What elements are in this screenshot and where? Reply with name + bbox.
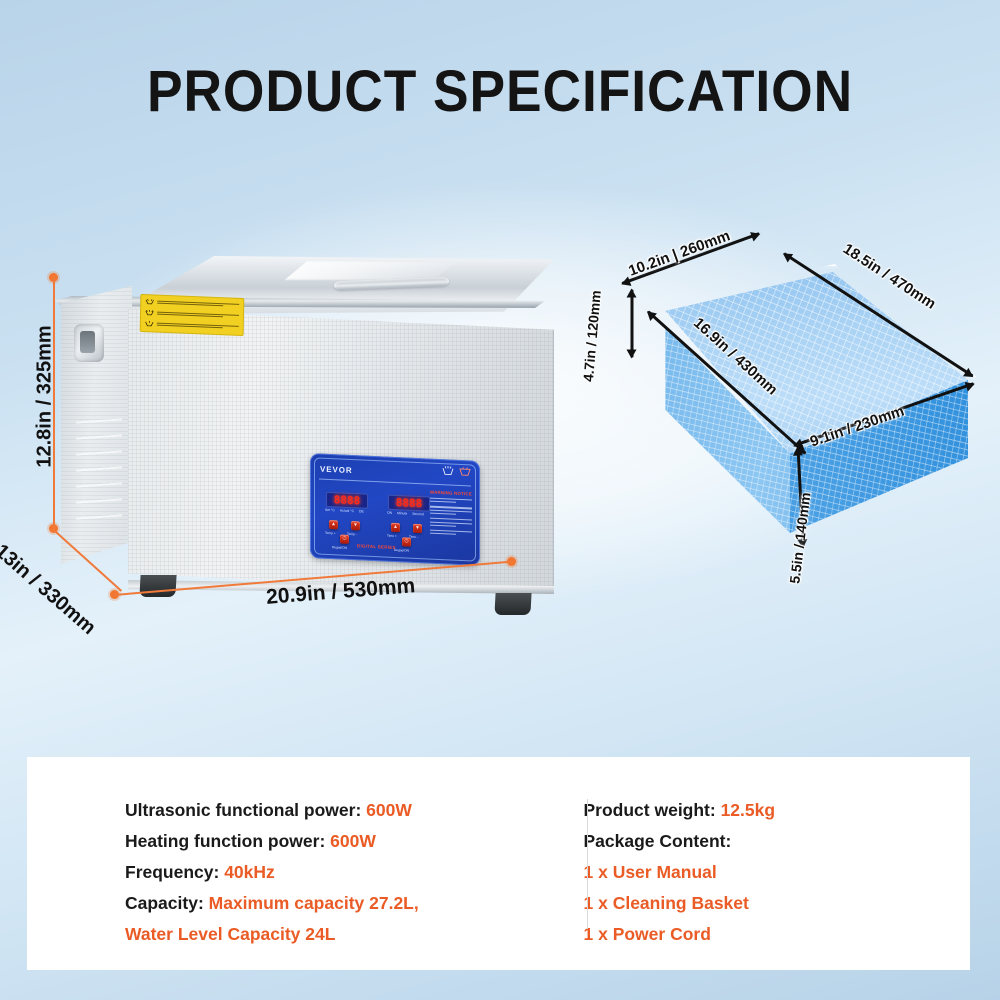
control-panel[interactable]: VEVOR 8888 Set °C Actual °C DE 8888 ON M… [310,453,480,566]
spec-label: Ultrasonic functional power: [125,800,366,820]
spec-product-weight: Product weight: 12.5kg [584,795,971,826]
temp-power-caption: Degas/ON [332,545,347,550]
package-item-user-manual: 1 x User Manual [584,857,971,888]
basket-warning-icon [145,298,154,306]
label-on: ON [387,511,392,515]
spec-column-left: Ultrasonic functional power: 600W Heatin… [27,757,512,970]
spec-package-content-heading: Package Content: [584,826,971,857]
time-up-button[interactable]: ▲ [391,523,400,532]
cleaner-foot [494,593,531,615]
spec-value: Maximum capacity 27.2L, [209,893,419,913]
ultrasonic-wave-icon [442,465,454,477]
spec-heating-power: Heating function power: 600W [125,826,512,857]
spec-column-divider [587,799,588,929]
timer-display: 8888 [388,495,430,512]
spec-capacity-continued: Water Level Capacity 24L [125,919,512,950]
cleaning-basket-illustration: 10.2in | 260mm 18.5in / 470mm 4.7in / 12… [590,230,990,610]
warning-sticker [140,294,245,336]
basket-warning-icon [145,320,154,328]
spec-label: Frequency: [125,862,224,882]
specification-card: Ultrasonic functional power: 600W Heatin… [27,757,970,970]
warning-sticker-row [145,309,239,321]
warning-sticker-text [157,311,239,319]
temperature-display: 8888 [326,492,368,509]
label-set-temp: Set °C [325,508,335,512]
temp-up-button[interactable]: ▲ [329,520,338,529]
package-item-cleaning-basket: 1 x Cleaning Basket [584,888,971,919]
package-item-power-cord: 1 x Power Cord [584,919,971,950]
machine-height-label: 12.8in / 325mm [34,302,57,492]
time-up-caption: Time + [387,534,397,538]
ultrasonic-cleaner-illustration: VEVOR 8888 Set °C Actual °C DE 8888 ON M… [40,250,580,630]
heating-basket-icon [459,466,471,478]
basket-outer-height-label: 4.7in / 120mm [580,290,604,383]
temp-down-button[interactable]: ▼ [351,521,360,530]
spec-ultrasonic-power: Ultrasonic functional power: 600W [125,795,512,826]
panel-icon-group [442,465,471,477]
spec-frequency: Frequency: 40kHz [125,857,512,888]
label-second: Second [412,512,424,517]
temp-power-button[interactable]: ⏻ [340,535,349,544]
side-vent-slots [76,418,122,531]
degas-button[interactable]: ⏻ [402,537,411,546]
warning-sticker-row [145,320,239,332]
warning-sticker-text [157,322,239,330]
spec-column-right: Product weight: 12.5kg Package Content: … [512,757,971,970]
panel-warning-text [430,498,472,540]
warning-sticker-row [145,298,239,310]
temperature-display-value: 8888 [334,493,361,507]
basket-outer-height-arrow [631,290,634,358]
label-de: DE [359,509,364,513]
temp-up-caption: Temp + [325,531,336,535]
spec-label: Product weight: [584,800,721,820]
page-title: PRODUCT SPECIFICATION [40,58,960,125]
warning-sticker-text [157,300,239,308]
vevor-logo: VEVOR [320,465,353,475]
basket-warning-icon [145,309,154,317]
spec-capacity: Capacity: Maximum capacity 27.2L, [125,888,512,919]
spec-value: 600W [330,831,376,851]
spec-value: 600W [366,800,412,820]
spec-label: Heating function power: [125,831,330,851]
basket-outer-width-label: 10.2in | 260mm [626,227,732,279]
degas-caption: Degas/ON [394,548,409,553]
timer-display-value: 8888 [396,496,423,510]
cleaner-foot [139,575,176,597]
spec-value: 40kHz [224,862,275,882]
spec-label: Capacity: [125,893,209,913]
side-carry-handle [74,324,104,362]
label-minute: Minute [397,511,407,515]
spec-value: 12.5kg [721,800,775,820]
time-down-button[interactable]: ▼ [413,524,422,533]
label-actual-temp: Actual °C [340,508,354,513]
